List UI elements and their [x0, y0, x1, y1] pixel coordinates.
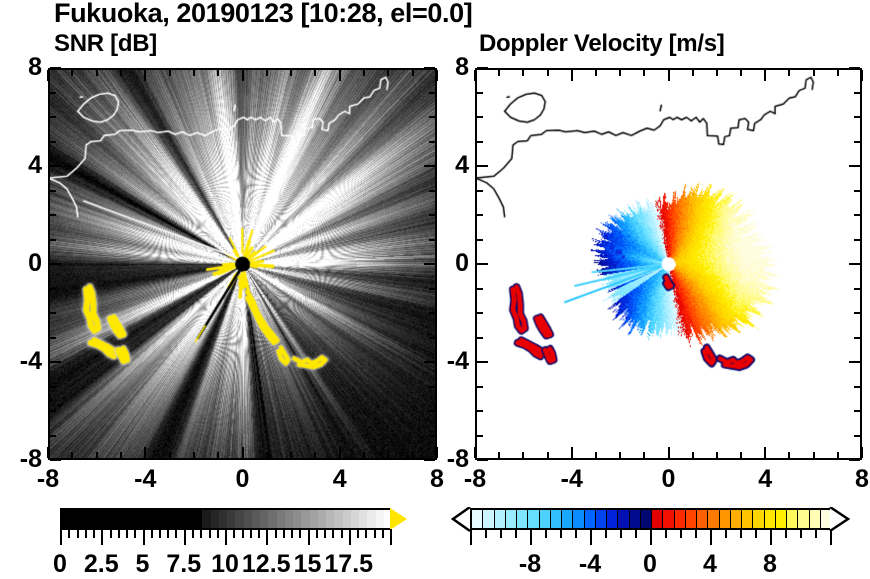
doppler-colorbar-over-arrow — [830, 508, 847, 530]
x-tick-bottom — [861, 447, 863, 458]
y-tick-right — [429, 337, 435, 339]
y-tick-right — [854, 288, 860, 290]
x-tick-top — [47, 70, 49, 81]
y-tick-right — [854, 116, 860, 118]
x-tick-bottom — [740, 452, 742, 458]
colorbar-segment — [742, 510, 753, 528]
colorbar-segment — [562, 510, 573, 528]
colorbar-segment — [506, 510, 517, 528]
y-tick-left — [477, 337, 483, 339]
colorbar-tick — [68, 529, 70, 538]
y-tick-left — [477, 288, 483, 290]
colorbar-tick — [283, 529, 285, 538]
y-tick-right — [429, 214, 435, 216]
x-tick-top — [217, 70, 219, 76]
x-tick-bottom — [266, 452, 268, 458]
x-axis-tick-label: -4 — [115, 465, 175, 494]
y-tick-right — [854, 214, 860, 216]
colorbar-segment — [776, 510, 787, 528]
x-tick-bottom — [547, 452, 549, 458]
x-tick-top — [96, 70, 98, 76]
y-tick-left — [477, 239, 483, 241]
x-tick-bottom — [217, 452, 219, 458]
y-tick-right — [429, 312, 435, 314]
colorbar-segment — [753, 510, 764, 528]
colorbar-tick — [167, 529, 169, 538]
x-tick-top — [314, 70, 316, 76]
y-tick-left — [50, 214, 56, 216]
x-tick-top — [242, 70, 244, 81]
colorbar-tick — [382, 529, 384, 538]
x-tick-top — [692, 70, 694, 76]
colorbar-tick — [575, 529, 577, 538]
colorbar-segment — [472, 510, 483, 528]
x-tick-bottom — [144, 447, 146, 458]
y-tick-right — [854, 312, 860, 314]
y-tick-left — [477, 410, 483, 412]
colorbar-segment — [765, 510, 776, 528]
colorbar-tick — [233, 529, 235, 538]
colorbar-tick — [175, 529, 177, 538]
colorbar-tick — [500, 529, 502, 538]
colorbar-tick — [275, 529, 277, 538]
x-tick-top — [740, 70, 742, 76]
x-tick-bottom — [813, 452, 815, 458]
colorbar-tick — [485, 529, 487, 538]
colorbar-tick — [77, 529, 79, 538]
colorbar-tick — [515, 529, 517, 538]
colorbar-tick — [200, 529, 202, 538]
y-tick-left — [50, 361, 61, 363]
x-axis-tick-label: 0 — [639, 465, 699, 494]
colorbar-tick — [755, 529, 757, 538]
y-axis-tick-label: 4 — [423, 151, 469, 180]
y-tick-right — [429, 410, 435, 412]
colorbar-segment — [630, 510, 641, 528]
x-tick-bottom — [71, 452, 73, 458]
colorbar-tick — [740, 529, 742, 538]
colorbar-tick — [635, 529, 637, 538]
y-tick-left — [477, 361, 488, 363]
x-tick-top — [498, 70, 500, 76]
x-tick-top — [668, 70, 670, 81]
colorbar-tick — [299, 529, 301, 538]
colorbar-tick — [590, 529, 592, 545]
x-tick-bottom — [498, 452, 500, 458]
colorbar-segment — [618, 510, 629, 528]
colorbar-tick — [134, 529, 136, 538]
y-tick-left — [50, 288, 56, 290]
y-axis-tick-label: 4 — [0, 151, 42, 180]
y-tick-left — [477, 386, 483, 388]
x-tick-top — [290, 70, 292, 76]
x-tick-top — [412, 70, 414, 76]
y-tick-left — [50, 337, 56, 339]
colorbar-segment — [573, 510, 584, 528]
colorbar-tick — [349, 529, 351, 545]
x-tick-top — [837, 70, 839, 76]
y-axis-tick-label: 0 — [0, 249, 42, 278]
x-axis-tick-label: 8 — [832, 465, 870, 494]
snr-colorbar[interactable]: 02.557.51012.51517.5 — [60, 508, 390, 530]
colorbar-tick — [192, 529, 194, 538]
y-tick-left — [477, 459, 488, 461]
x-tick-bottom — [242, 447, 244, 458]
x-axis-tick-label: 0 — [213, 465, 273, 494]
y-tick-right — [429, 116, 435, 118]
y-tick-left — [50, 239, 56, 241]
colorbar-segment — [551, 510, 562, 528]
x-axis-tick-label: 4 — [735, 465, 795, 494]
colorbar-tick — [650, 529, 652, 545]
y-tick-left — [477, 263, 488, 265]
colorbar-tick — [324, 529, 326, 538]
colorbar-segment — [528, 510, 539, 528]
y-axis-tick-label: 8 — [0, 53, 42, 82]
y-axis-tick-label: -8 — [423, 445, 469, 474]
y-tick-left — [477, 435, 483, 437]
y-tick-right — [854, 92, 860, 94]
y-tick-left — [50, 116, 56, 118]
y-axis-tick-label: 8 — [423, 53, 469, 82]
x-tick-top — [266, 70, 268, 76]
colorbar-tick — [341, 529, 343, 538]
x-tick-top — [144, 70, 146, 81]
colorbar-tick — [830, 529, 832, 545]
x-tick-top — [71, 70, 73, 76]
x-tick-bottom — [169, 452, 171, 458]
doppler-plot-panel[interactable] — [475, 68, 862, 460]
colorbar-tick — [530, 529, 532, 545]
y-tick-left — [477, 190, 483, 192]
x-tick-top — [522, 70, 524, 76]
colorbar-segment — [708, 510, 719, 528]
colorbar-tick — [785, 529, 787, 538]
doppler-colorbar-under-arrow — [453, 508, 470, 530]
colorbar-tick — [291, 529, 293, 538]
x-tick-top — [619, 70, 621, 76]
x-tick-bottom — [619, 452, 621, 458]
colorbar-segment — [720, 510, 731, 528]
y-tick-right — [429, 435, 435, 437]
colorbar-tick — [365, 529, 367, 538]
colorbar-tick — [770, 529, 772, 545]
x-tick-bottom — [314, 452, 316, 458]
y-tick-left — [50, 410, 56, 412]
x-tick-bottom — [522, 452, 524, 458]
y-tick-left — [50, 386, 56, 388]
y-axis-tick-label: -8 — [0, 445, 42, 474]
x-tick-bottom — [595, 452, 597, 458]
x-tick-top — [474, 70, 476, 81]
x-tick-top — [764, 70, 766, 81]
y-tick-right — [429, 92, 435, 94]
figure-root: Fukuoka, 20190123 [10:28, el=0.0] SNR [d… — [0, 0, 870, 570]
x-tick-top — [788, 70, 790, 76]
x-tick-bottom — [363, 452, 365, 458]
x-tick-top — [120, 70, 122, 76]
colorbar-tick — [258, 529, 260, 538]
y-tick-left — [50, 165, 61, 167]
y-tick-right — [854, 435, 860, 437]
y-tick-right — [429, 190, 435, 192]
y-tick-right — [849, 67, 860, 69]
y-axis-tick-label: -4 — [0, 347, 42, 376]
colorbar-tick — [110, 529, 112, 538]
colorbar-segment — [810, 510, 821, 528]
colorbar-tick — [308, 529, 310, 545]
colorbar-segment — [652, 510, 663, 528]
colorbar-tick — [242, 529, 244, 538]
x-tick-top — [571, 70, 573, 81]
x-tick-top — [547, 70, 549, 76]
colorbar-segment — [495, 510, 506, 528]
y-tick-right — [429, 141, 435, 143]
x-tick-top — [193, 70, 195, 76]
y-tick-right — [429, 239, 435, 241]
colorbar-segment — [686, 510, 697, 528]
colorbar-tick — [250, 529, 252, 538]
colorbar-tick — [470, 529, 472, 545]
snr-plot-panel[interactable] — [48, 68, 437, 460]
doppler-colorbar-label: 0 — [623, 550, 677, 579]
y-tick-left — [50, 435, 56, 437]
colorbar-tick — [101, 529, 103, 545]
x-tick-top — [716, 70, 718, 76]
y-tick-left — [50, 92, 56, 94]
doppler-colorbar-label: -4 — [563, 550, 617, 579]
colorbar-tick — [374, 529, 376, 538]
colorbar-tick — [800, 529, 802, 538]
colorbar-tick — [390, 529, 392, 545]
colorbar-tick — [209, 529, 211, 538]
colorbar-segment — [641, 510, 652, 528]
x-tick-top — [861, 70, 863, 81]
snr-colorbar-over-arrow — [390, 508, 407, 530]
x-tick-bottom — [692, 452, 694, 458]
y-tick-right — [849, 361, 860, 363]
x-tick-top — [363, 70, 365, 76]
y-tick-left — [50, 312, 56, 314]
x-tick-top — [387, 70, 389, 76]
colorbar-tick — [143, 529, 145, 545]
colorbar-tick — [680, 529, 682, 538]
x-tick-bottom — [193, 452, 195, 458]
snr-colorbar-label: 17.5 — [322, 550, 376, 579]
colorbar-tick — [725, 529, 727, 538]
x-tick-top — [169, 70, 171, 76]
colorbar-tick — [332, 529, 334, 538]
y-axis-tick-label: 0 — [423, 249, 469, 278]
colorbar-tick — [560, 529, 562, 538]
colorbar-tick — [665, 529, 667, 538]
x-tick-bottom — [290, 452, 292, 458]
colorbar-segment — [517, 510, 528, 528]
x-tick-top — [643, 70, 645, 76]
colorbar-tick — [316, 529, 318, 538]
y-tick-left — [477, 214, 483, 216]
y-tick-left — [477, 67, 488, 69]
y-tick-right — [854, 239, 860, 241]
colorbar-tick — [620, 529, 622, 538]
doppler-field-canvas — [477, 70, 860, 458]
x-axis-tick-label: 4 — [310, 465, 370, 494]
x-tick-bottom — [120, 452, 122, 458]
colorbar-tick — [118, 529, 120, 538]
snr-field-canvas — [50, 70, 435, 458]
x-tick-bottom — [96, 452, 98, 458]
y-tick-left — [477, 165, 488, 167]
x-tick-bottom — [643, 452, 645, 458]
colorbar-tick — [225, 529, 227, 545]
colorbar-segment — [540, 510, 551, 528]
x-tick-bottom — [837, 452, 839, 458]
doppler-colorbar-gradient — [470, 508, 830, 530]
x-tick-bottom — [788, 452, 790, 458]
y-tick-right — [849, 459, 860, 461]
x-tick-bottom — [339, 447, 341, 458]
y-tick-right — [854, 410, 860, 412]
doppler-colorbar-label: 8 — [743, 550, 797, 579]
colorbar-tick — [60, 529, 62, 545]
colorbar-tick — [357, 529, 359, 538]
colorbar-segment — [675, 510, 686, 528]
y-tick-right — [429, 386, 435, 388]
x-tick-top — [595, 70, 597, 76]
y-tick-left — [50, 190, 56, 192]
colorbar-tick — [184, 529, 186, 545]
colorbar-tick — [266, 529, 268, 545]
y-tick-right — [849, 165, 860, 167]
y-tick-left — [50, 459, 61, 461]
colorbar-segment — [483, 510, 494, 528]
y-tick-right — [854, 141, 860, 143]
y-tick-right — [854, 337, 860, 339]
y-tick-left — [50, 67, 61, 69]
colorbar-segment — [798, 510, 809, 528]
doppler-panel-title: Doppler Velocity [m/s] — [479, 30, 724, 58]
x-tick-bottom — [668, 447, 670, 458]
colorbar-tick — [85, 529, 87, 538]
colorbar-tick — [815, 529, 817, 538]
x-tick-top — [813, 70, 815, 76]
y-tick-right — [849, 263, 860, 265]
page-title: Fukuoka, 20190123 [10:28, el=0.0] — [54, 0, 472, 29]
y-tick-right — [854, 386, 860, 388]
x-axis-tick-label: -4 — [542, 465, 602, 494]
colorbar-segment — [697, 510, 708, 528]
x-tick-bottom — [571, 447, 573, 458]
colorbar-segment — [731, 510, 742, 528]
colorbar-tick — [695, 529, 697, 538]
x-tick-bottom — [764, 447, 766, 458]
x-tick-bottom — [412, 452, 414, 458]
doppler-colorbar-label: -8 — [503, 550, 557, 579]
colorbar-segment — [787, 510, 798, 528]
colorbar-segment — [596, 510, 607, 528]
x-tick-bottom — [387, 452, 389, 458]
y-tick-left — [477, 141, 483, 143]
y-tick-left — [477, 312, 483, 314]
colorbar-segment — [663, 510, 674, 528]
snr-panel-title: SNR [dB] — [54, 30, 157, 58]
y-tick-left — [50, 263, 61, 265]
x-tick-bottom — [474, 447, 476, 458]
colorbar-tick — [217, 529, 219, 538]
y-tick-left — [50, 141, 56, 143]
colorbar-tick — [545, 529, 547, 538]
colorbar-tick — [605, 529, 607, 538]
colorbar-segment — [585, 510, 596, 528]
colorbar-segment — [607, 510, 618, 528]
colorbar-tick — [159, 529, 161, 538]
y-tick-right — [429, 288, 435, 290]
colorbar-tick — [710, 529, 712, 545]
y-tick-left — [477, 116, 483, 118]
y-tick-right — [854, 190, 860, 192]
x-tick-bottom — [47, 447, 49, 458]
colorbar-tick — [151, 529, 153, 538]
y-axis-tick-label: -4 — [423, 347, 469, 376]
colorbar-tick — [126, 529, 128, 538]
doppler-colorbar-label: 4 — [683, 550, 737, 579]
y-tick-left — [477, 92, 483, 94]
doppler-colorbar[interactable]: -8-4048 — [470, 508, 830, 530]
x-tick-top — [339, 70, 341, 81]
x-tick-bottom — [716, 452, 718, 458]
colorbar-tick — [93, 529, 95, 538]
snr-colorbar-gradient — [60, 508, 390, 530]
